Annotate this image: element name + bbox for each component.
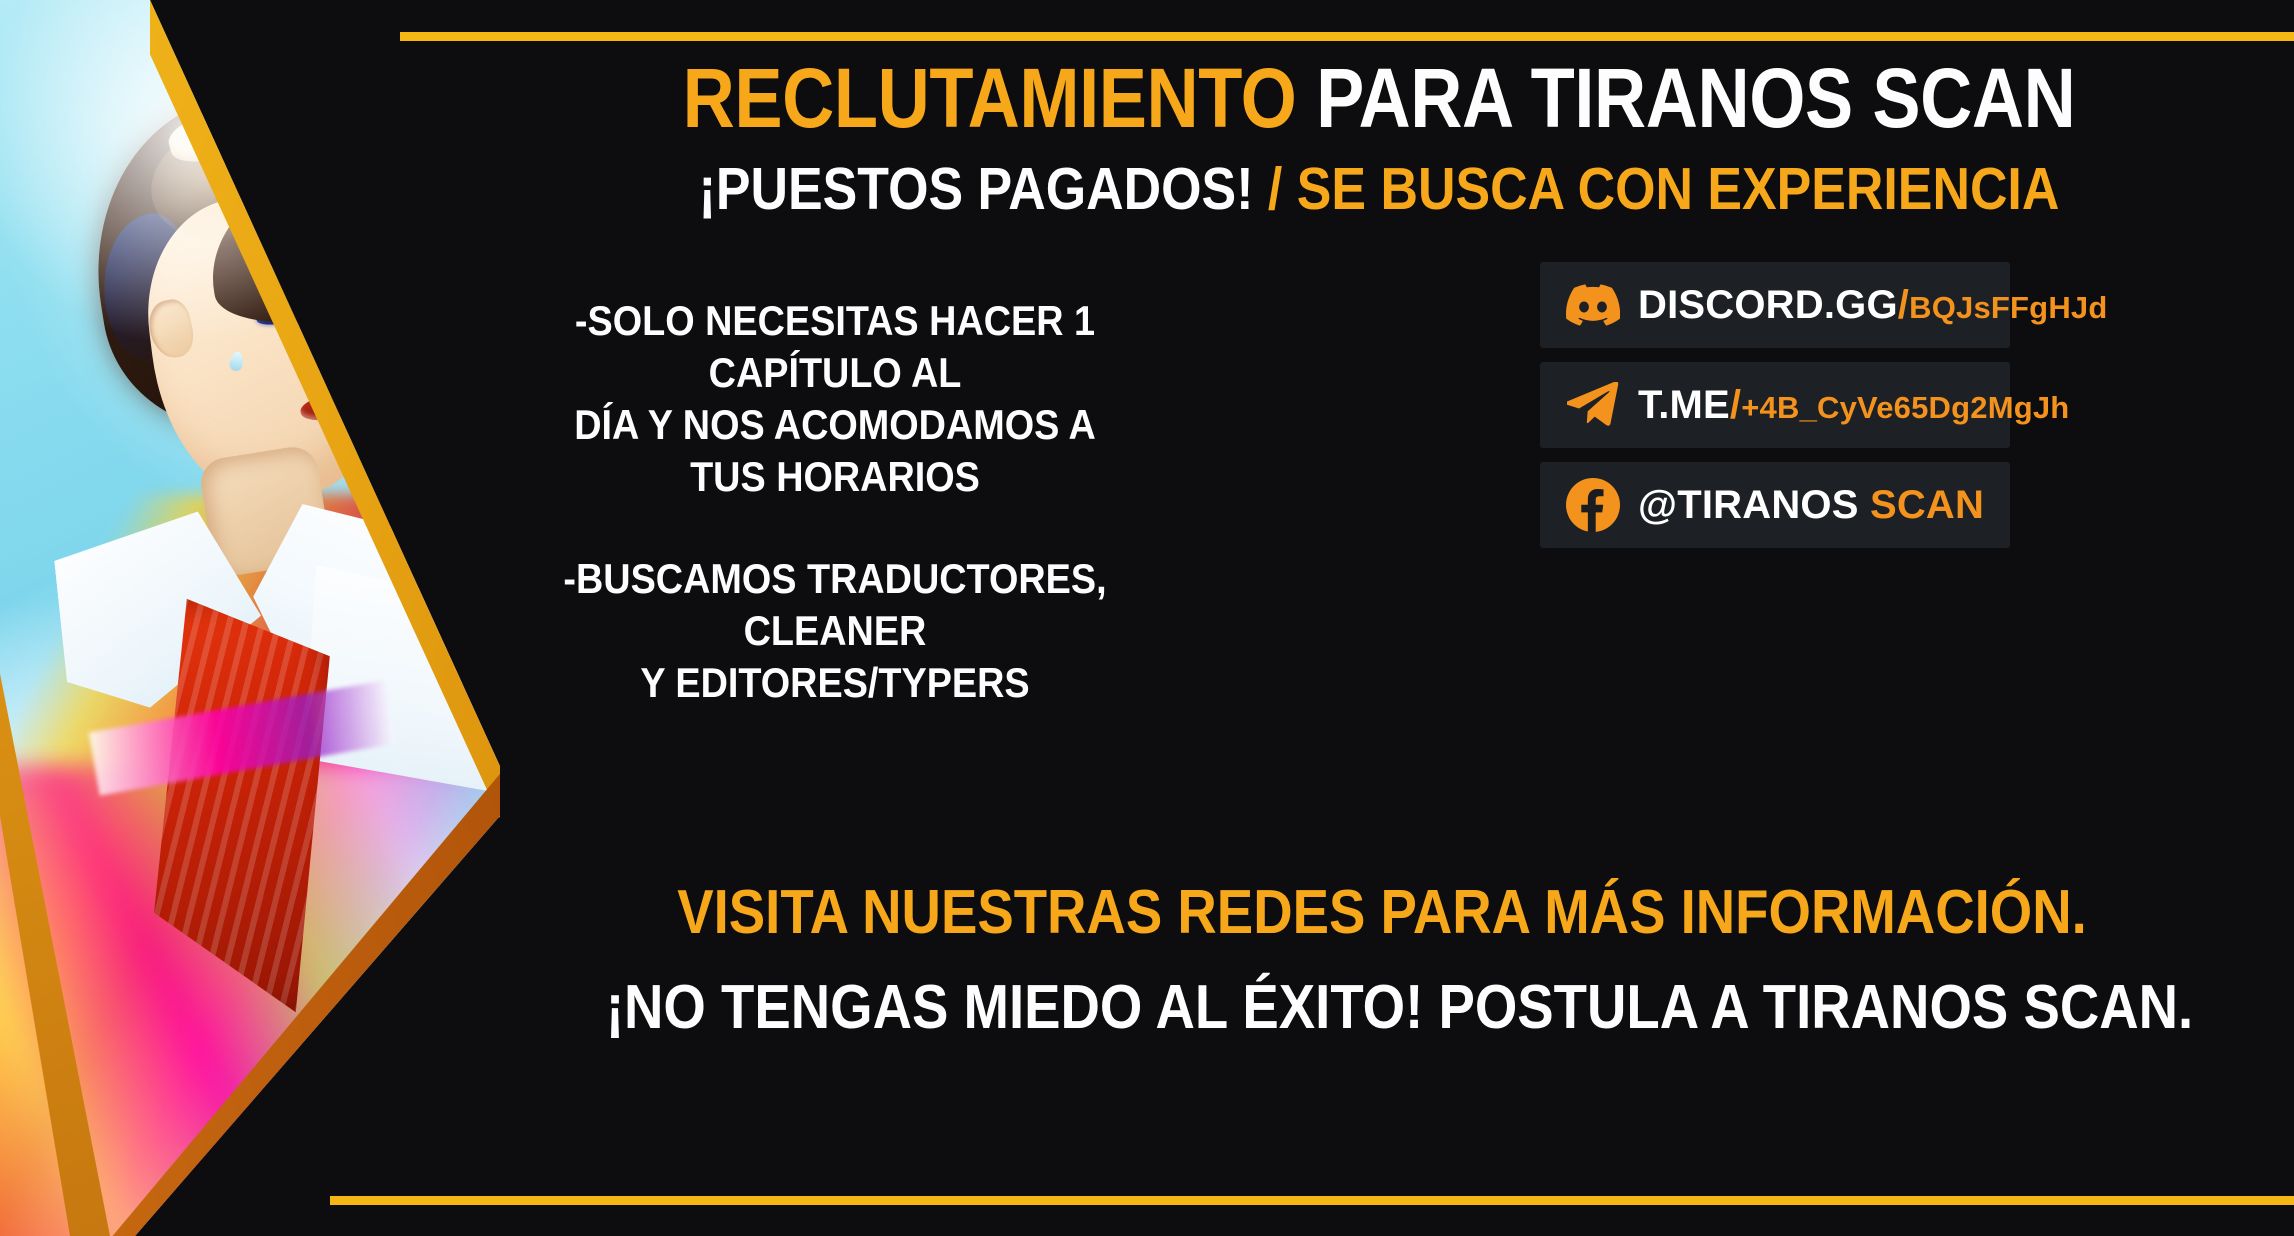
cta-line-two: ¡NO TENGAS MIEDO AL ÉXITO! POSTULA A TIR… xyxy=(606,975,2158,1040)
discord-icon xyxy=(1566,278,1620,332)
body-line-2: DÍA Y NOS ACOMODAMOS A TUS HORARIOS xyxy=(574,401,1096,500)
discord-invite-code: BQJsFFgHJd xyxy=(1909,290,2107,325)
facebook-icon xyxy=(1566,478,1620,532)
contact-row-facebook[interactable]: @TIRANOS SCAN xyxy=(1540,462,2010,548)
content-column: RECLUTAMIENTO PARA TIRANOS SCAN ¡PUESTOS… xyxy=(500,0,2294,1236)
headline-rest: PARA TIRANOS SCAN xyxy=(1316,51,2075,145)
body-line-1: -SOLO NECESITAS HACER 1 CAPÍTULO AL xyxy=(575,297,1095,396)
contact-row-discord[interactable]: DISCORD.GG/BQJsFFgHJd xyxy=(1540,262,2010,348)
character-eyebrow-right xyxy=(329,292,386,321)
discord-separator: / xyxy=(1898,283,1909,327)
call-to-action: VISITA NUESTRAS REDES PARA MÁS INFORMACI… xyxy=(606,880,2158,1040)
facebook-handle: @TIRANOS xyxy=(1638,483,1859,527)
subheadline-experience: / SE BUSCA CON EXPERIENCIA xyxy=(1268,156,2059,222)
character-eyeline-right xyxy=(340,319,388,337)
body-text: -SOLO NECESITAS HACER 1 CAPÍTULO AL DÍA … xyxy=(543,295,1128,710)
telegram-separator: / xyxy=(1730,383,1741,427)
telegram-invite-code: +4B_CyVe65Dg2MgJh xyxy=(1741,390,2069,425)
contact-facebook-text: @TIRANOS SCAN xyxy=(1638,483,1984,528)
body-paragraph-two: -BUSCAMOS TRADUCTORES, CLEANER Y EDITORE… xyxy=(543,553,1128,709)
discord-domain: DISCORD.GG xyxy=(1638,283,1898,327)
subheadline: ¡PUESTOS PAGADOS! / SE BUSCA CON EXPERIE… xyxy=(605,160,2152,219)
subheadline-paid-positions: ¡PUESTOS PAGADOS! xyxy=(699,156,1254,222)
telegram-domain: T.ME xyxy=(1638,383,1730,427)
facebook-handle-suffix: SCAN xyxy=(1870,483,1984,527)
contact-discord-text: DISCORD.GG/BQJsFFgHJd xyxy=(1638,283,2107,328)
body-line-3: -BUSCAMOS TRADUCTORES, CLEANER xyxy=(563,555,1106,654)
recruitment-banner: RECLUTAMIENTO PARA TIRANOS SCAN ¡PUESTOS… xyxy=(0,0,2294,1236)
character-illustration xyxy=(0,0,500,1236)
headline-highlight: RECLUTAMIENTO xyxy=(683,51,1297,145)
character-hair-front xyxy=(197,153,450,341)
artwork-image xyxy=(0,0,500,1236)
character-hair-bang-one xyxy=(284,222,408,309)
cta-line-one: VISITA NUESTRAS REDES PARA MÁS INFORMACI… xyxy=(606,880,2158,945)
character-nose xyxy=(335,366,363,384)
body-line-4: Y EDITORES/TYPERS xyxy=(640,659,1029,706)
contact-telegram-text: T.ME/+4B_CyVe65Dg2MgJh xyxy=(1638,383,2069,428)
body-paragraph-one: -SOLO NECESITAS HACER 1 CAPÍTULO AL DÍA … xyxy=(543,295,1128,503)
character-hair-bang-two xyxy=(326,245,419,320)
character-eye-right xyxy=(343,328,384,354)
character-hair-tip xyxy=(365,257,476,368)
artwork-panel xyxy=(0,0,500,1236)
character-hair-ribbon xyxy=(164,97,284,169)
headline: RECLUTAMIENTO PARA TIRANOS SCAN xyxy=(623,58,2135,139)
telegram-icon xyxy=(1566,378,1620,432)
contact-list: DISCORD.GG/BQJsFFgHJd T.ME/+4B_CyVe65Dg2… xyxy=(1540,262,2010,562)
contact-row-telegram[interactable]: T.ME/+4B_CyVe65Dg2MgJh xyxy=(1540,362,2010,448)
